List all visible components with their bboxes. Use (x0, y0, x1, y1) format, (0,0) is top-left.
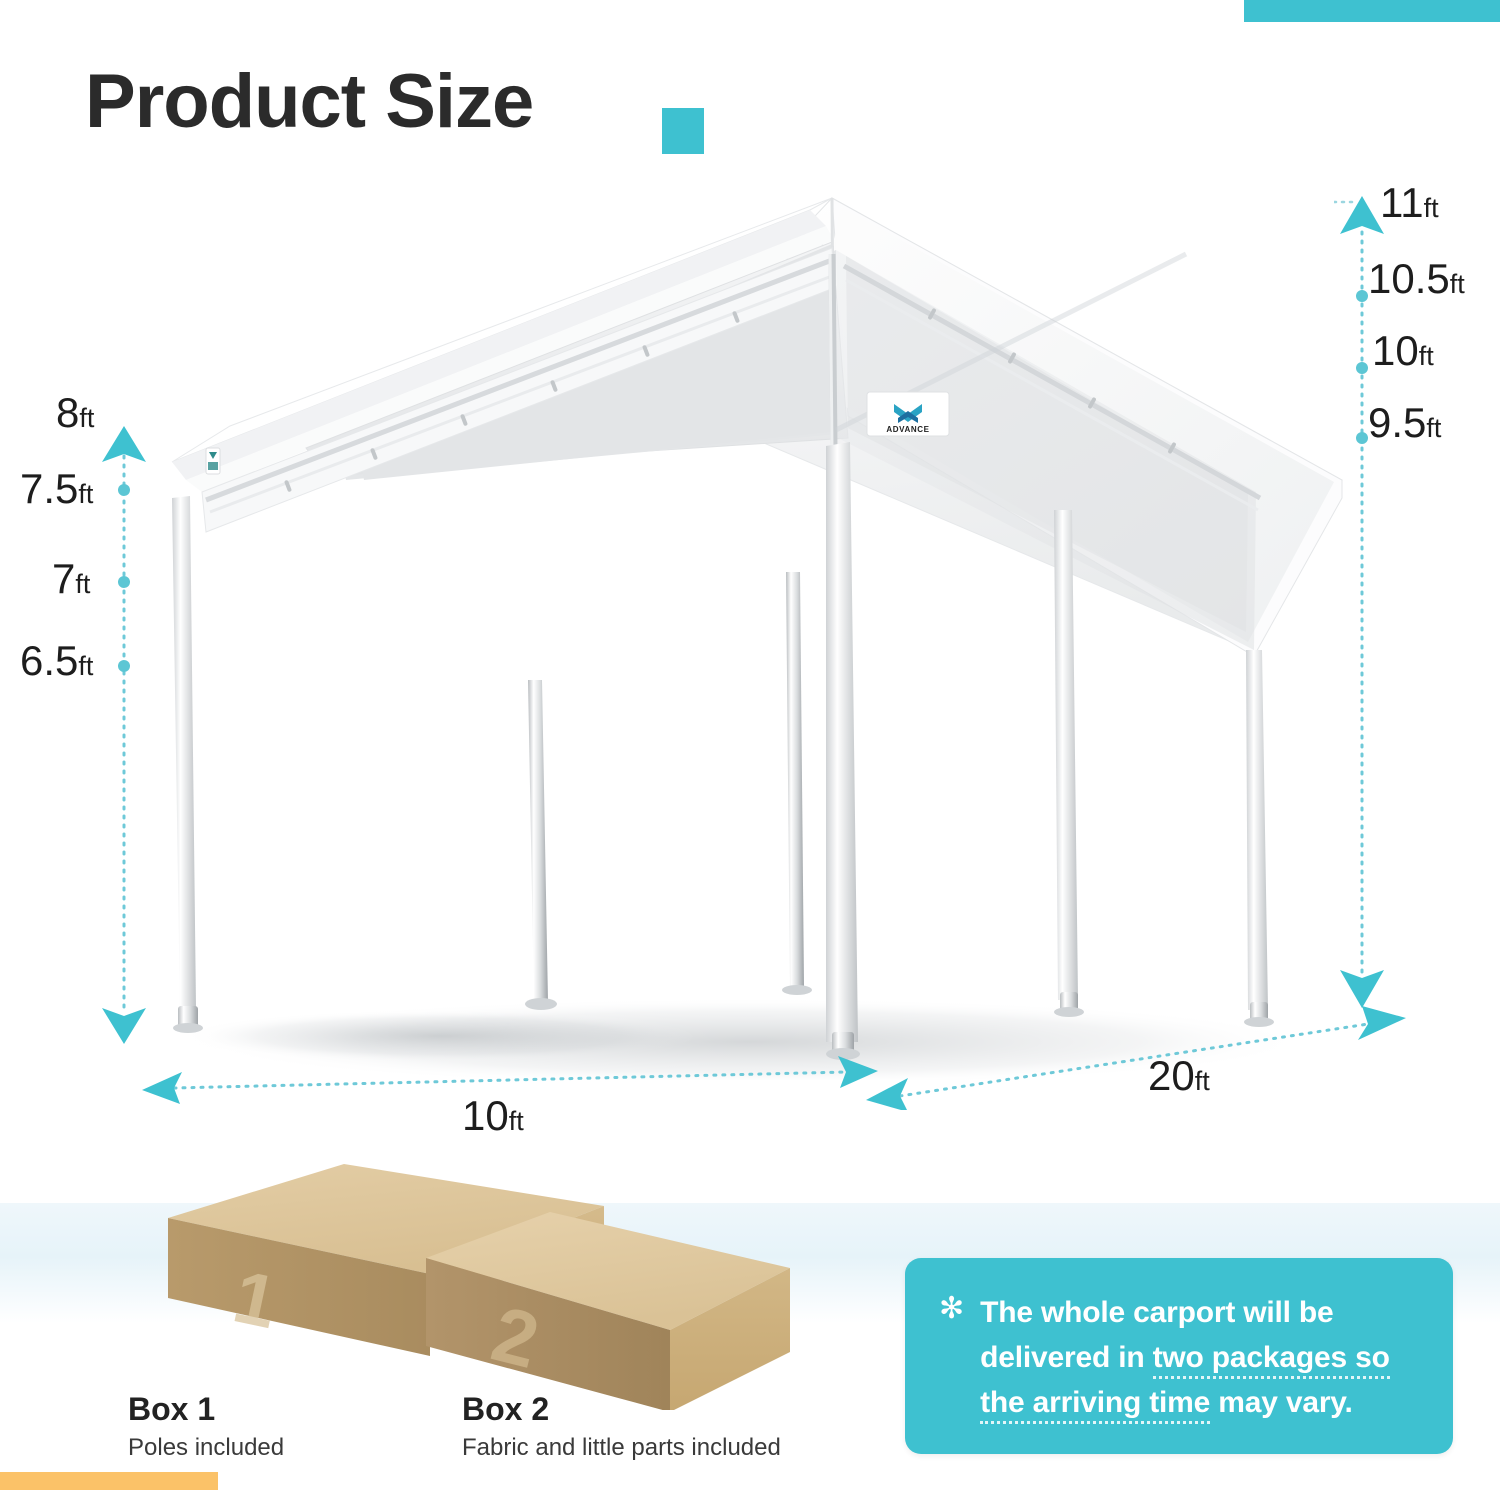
box-1-subtitle: Poles included (128, 1434, 284, 1463)
note-line-3-underlined: the arriving time (980, 1386, 1210, 1424)
page-title: Product Size (85, 58, 533, 145)
title-accent-square (662, 108, 704, 154)
svg-text:ADVANCE: ADVANCE (886, 425, 929, 434)
packaging-boxes: 1 2 (130, 1160, 830, 1420)
width-dim-label: 10ft (462, 1095, 524, 1137)
asterisk-icon: ✻ (939, 1290, 964, 1425)
note-line-2-underlined: two packages so (1153, 1341, 1390, 1379)
right-dim-label-0: 11ft (1380, 182, 1439, 224)
left-dim-label-3: 6.5ft (20, 640, 93, 682)
box-2-title: Box 2 (462, 1391, 781, 1428)
bottom-accent-bar (0, 1472, 218, 1490)
left-dim-label-1: 7.5ft (20, 468, 93, 510)
length-dim-label: 20ft (1148, 1055, 1210, 1097)
right-dim-label-3: 9.5ft (1368, 402, 1441, 444)
left-dim-label-2: 7ft (52, 558, 90, 600)
product-size-infographic: Product Size (0, 0, 1500, 1500)
note-line-1: The whole carport will be (980, 1296, 1333, 1329)
left-dim-label-0: 8ft (56, 392, 94, 434)
right-dim-label-2: 10ft (1372, 330, 1434, 372)
box-2-subtitle: Fabric and little parts included (462, 1434, 781, 1463)
left-dimension-line (98, 418, 154, 1048)
box-1-caption: Box 1 Poles included (128, 1391, 284, 1463)
note-line-3-plain: may vary. (1210, 1386, 1353, 1419)
box-2-caption: Box 2 Fabric and little parts included (462, 1391, 781, 1463)
carport-illustration: ADVANCE (110, 180, 1410, 1080)
length-dimension-line (858, 1000, 1418, 1110)
right-dimension-line (1334, 186, 1394, 1016)
delivery-note-text: The whole carport will be delivered in t… (980, 1290, 1390, 1425)
right-dim-label-1: 10.5ft (1368, 258, 1465, 300)
box-1-title: Box 1 (128, 1391, 284, 1428)
top-accent-bar (1244, 0, 1500, 22)
delivery-note: ✻ The whole carport will be delivered in… (905, 1258, 1453, 1454)
note-line-2-plain: delivered in (980, 1341, 1152, 1374)
